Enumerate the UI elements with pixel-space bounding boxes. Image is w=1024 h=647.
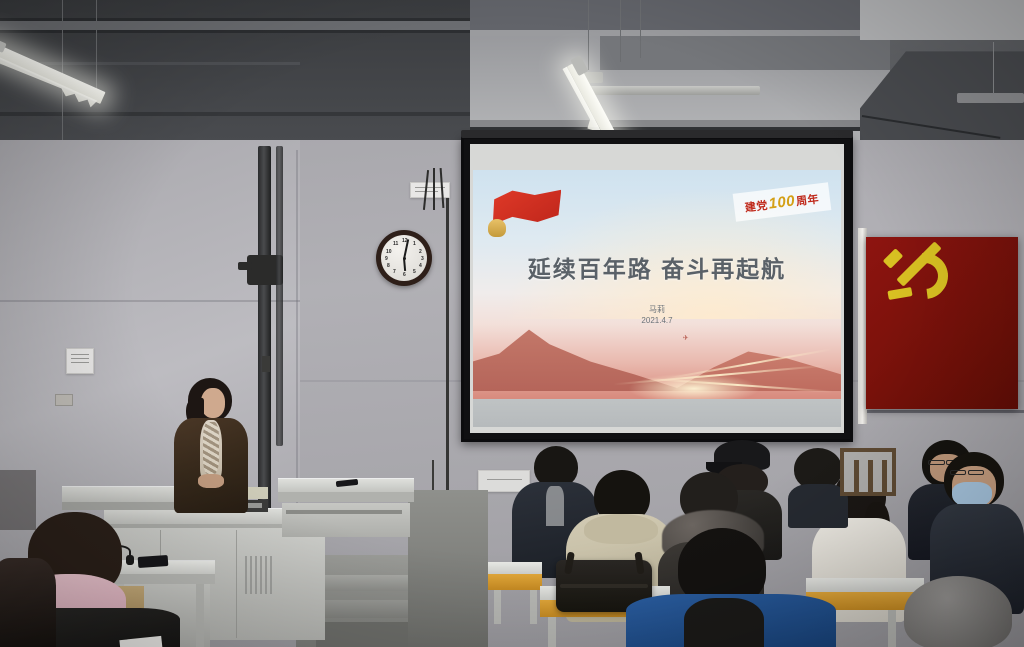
teacher-desk-vents <box>245 556 281 596</box>
wall-seam-left <box>0 300 300 302</box>
ceiling-soffit <box>470 0 890 30</box>
lectern-right-body <box>282 503 410 537</box>
classroom-photo: 建党100周年 ✈ 延续百年路 奋斗再起航 马莉 2021.4.7 <box>0 0 1024 647</box>
floor-right-of-stage <box>408 490 488 647</box>
clock-face: 12 1 2 3 4 5 6 7 8 9 10 11 <box>381 235 427 281</box>
lamp-wire-center-b <box>620 0 621 62</box>
seat-row-left <box>488 574 542 590</box>
ceiling-recess <box>600 36 890 70</box>
wall-notice-pipe <box>410 182 450 198</box>
clock-num-11: 11 <box>393 241 398 247</box>
ceiling-tube-unlit-center <box>585 86 760 95</box>
clock-num-8: 8 <box>387 263 390 269</box>
clock-num-5: 5 <box>413 269 416 275</box>
seat-leg-left-2 <box>530 590 537 624</box>
clock-num-3: 3 <box>421 256 424 262</box>
badge-suffix-text: 周年 <box>796 193 820 208</box>
slide-flag-tassel-icon <box>488 219 506 237</box>
seat-leg-left-1 <box>494 590 501 624</box>
ceiling-beam-left <box>0 112 470 116</box>
wall-outlet <box>55 394 73 406</box>
left-foreground-shadow <box>0 470 36 530</box>
presentation-slide: 建党100周年 ✈ 延续百年路 奋斗再起航 马莉 2021.4.7 <box>473 170 841 427</box>
teacher-desk-divider-2 <box>236 530 237 638</box>
presenter-woman <box>172 378 250 513</box>
clock-num-4: 4 <box>419 263 422 269</box>
lectern-left-edge <box>62 502 190 510</box>
lectern-right-drawer <box>286 510 402 514</box>
wall-notice-left <box>66 348 94 374</box>
grey-hair-head <box>904 576 1012 647</box>
seat-leg-center-1 <box>548 617 556 647</box>
lamp-wire-center-c <box>640 0 641 58</box>
slide-base-strip <box>473 399 841 427</box>
presenter-face <box>201 388 225 418</box>
cable-run-down <box>446 198 449 498</box>
masked-man-glasses-left <box>950 470 966 475</box>
badge-number-text: 100 <box>768 192 796 212</box>
audience-grey-hair-front <box>890 576 1024 647</box>
wall-corner-seam <box>296 150 298 530</box>
pipe-clamp <box>262 356 270 372</box>
lamp-wire-center-a <box>588 0 589 70</box>
screen-surface: 建党100周年 ✈ 延续百年路 奋斗再起航 马莉 2021.4.7 <box>470 144 844 433</box>
presenter-hands <box>198 474 224 488</box>
slide-byline: 马莉 2021.4.7 <box>473 304 841 327</box>
equipment-table-leg <box>196 584 204 647</box>
clock-num-10: 10 <box>386 249 392 255</box>
lamp-wire-left-b <box>96 0 97 98</box>
pipe-valve-handle <box>238 262 252 270</box>
clock-center-pin <box>403 257 406 260</box>
clock-num-1: 1 <box>413 241 416 247</box>
wall-clock: 12 1 2 3 4 5 6 7 8 9 10 11 2:47 <box>376 230 432 286</box>
clock-num-9: 9 <box>385 256 388 262</box>
slide-date: 2021.4.7 <box>473 315 841 327</box>
suit-man-collar <box>546 486 564 526</box>
ceiling-tube-unlit-right <box>957 93 1024 103</box>
hammer-head-icon <box>883 248 904 269</box>
clock-num-2: 2 <box>419 249 422 255</box>
lectern-right-edge <box>278 492 414 502</box>
cpc-party-flag <box>866 237 1018 409</box>
slide-presenter-name: 马莉 <box>473 304 841 316</box>
presenter-scarf-pattern <box>203 422 219 474</box>
clock-num-6: 6 <box>403 272 406 278</box>
cable-2 <box>433 168 435 210</box>
audience-left-edge <box>0 558 56 647</box>
left-edge-body <box>0 558 56 647</box>
wall-pipe-secondary <box>276 146 283 446</box>
clock-hour-hand <box>403 258 406 271</box>
badge-prefix-text: 建党 <box>745 199 769 214</box>
audience-back-right <box>788 448 848 520</box>
slide-title: 延续百年路 奋斗再起航 <box>473 250 841 284</box>
desk-row-left <box>488 562 542 574</box>
projection-screen: 建党100周年 ✈ 延续百年路 奋斗再起航 马莉 2021.4.7 <box>461 136 853 442</box>
back-right-body <box>788 484 848 528</box>
wall-pipe-main <box>258 146 271 516</box>
ceiling-beam-center-lower <box>470 120 890 127</box>
ceiling-far-right-top <box>860 0 1024 40</box>
blue-jacket-collar <box>684 598 764 647</box>
wooden-chair-back <box>840 448 896 496</box>
slide-birds-icon: ✈ <box>683 334 689 342</box>
screen-top-roller <box>461 130 853 138</box>
audience-blue-jacket <box>626 528 836 647</box>
sickle-handle-icon <box>887 287 912 300</box>
clock-num-7: 7 <box>393 269 396 275</box>
lamp-wire-right <box>993 42 994 94</box>
masked-man-glasses-right <box>968 470 984 475</box>
lectern-left-top <box>62 486 190 502</box>
wall-seam-right <box>860 410 1024 413</box>
